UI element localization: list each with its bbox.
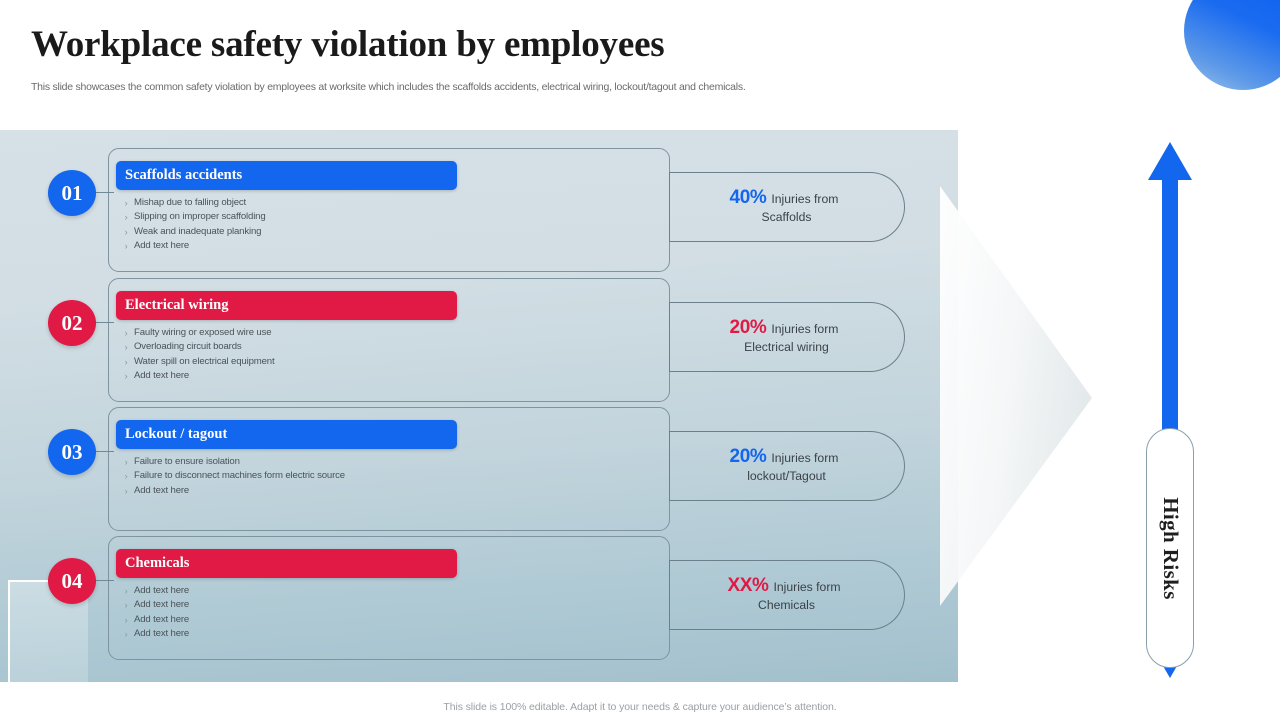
slide-root: Workplace safety violation by employees … [0,0,1280,720]
list-item: ›Add text here [118,484,658,498]
page-subtitle: This slide showcases the common safety v… [31,81,931,95]
chevron-right-icon: › [118,210,134,224]
list-item-label: Water spill on electrical equipment [134,355,275,369]
violation-card-title[interactable]: Electrical wiring [116,291,457,320]
list-item: ›Faulty wiring or exposed wire use [118,326,658,340]
chevron-right-icon: › [118,469,134,483]
chevron-right-icon: › [118,355,134,369]
list-item-label: Mishap due to falling object [134,196,246,210]
violation-bullet-list: ›Mishap due to falling object›Slipping o… [118,196,658,254]
high-risks-capsule: High Risks [1146,428,1194,668]
high-risk-axis: High Risks [1140,138,1202,682]
list-item-label: Overloading circuit boards [134,340,242,354]
list-item-label: Add text here [134,369,189,383]
pill-connector-line [669,302,670,372]
list-item-label: Add text here [134,627,189,641]
pill-connector-line [669,560,670,630]
stat-percent-value: 40% [730,187,767,208]
violation-card[interactable]: Electrical wiring›Faulty wiring or expos… [108,278,670,402]
pill-connector-line [669,431,670,501]
list-item-label: Add text here [134,239,189,253]
stat-pill-line1: 20%Injuries form [730,448,839,467]
chevron-arrow-shape [940,186,1092,606]
decorative-corner-circle [1184,0,1280,90]
list-item: ›Slipping on improper scaffolding [118,210,658,224]
chevron-right-icon: › [118,326,134,340]
list-item-label: Failure to ensure isolation [134,455,240,469]
chevron-right-icon: › [118,627,134,641]
violation-card[interactable]: Scaffolds accidents›Mishap due to fallin… [108,148,670,272]
violation-bullet-list: ›Faulty wiring or exposed wire use›Overl… [118,326,658,384]
chevron-right-icon: › [118,239,134,253]
stat-label-line2: lockout/Tagout [735,467,839,485]
row-number-badge[interactable]: 04 [48,558,96,604]
row-number-badge[interactable]: 01 [48,170,96,216]
page-title: Workplace safety violation by employees [31,24,931,67]
list-item: ›Add text here [118,369,658,383]
list-item-label: Add text here [134,598,189,612]
list-item: ›Failure to disconnect machines form ele… [118,469,658,483]
violation-card[interactable]: Chemicals›Add text here›Add text here›Ad… [108,536,670,660]
stat-pill[interactable]: 40%Injuries fromScaffolds [670,172,905,242]
content-panel: 01Scaffolds accidents›Mishap due to fall… [0,130,958,682]
stat-label-line1: Injuries form [771,322,838,336]
stat-pill-content: XX%Injuries formChemicals [723,577,850,614]
high-risks-label: High Risks [1158,497,1183,600]
stat-pill[interactable]: 20%Injuries formlockout/Tagout [670,431,905,501]
stat-pill-content: 40%Injuries fromScaffolds [726,189,849,226]
list-item: ›Failure to ensure isolation [118,455,658,469]
list-item-label: Add text here [134,584,189,598]
stat-pill[interactable]: XX%Injuries formChemicals [670,560,905,630]
stat-pill-content: 20%Injuries formElectrical wiring [726,319,849,356]
pill-connector-line [669,172,670,242]
list-item-label: Weak and inadequate planking [134,225,261,239]
chevron-right-icon: › [118,225,134,239]
list-item: ›Water spill on electrical equipment [118,355,658,369]
violation-card-title[interactable]: Chemicals [116,549,457,578]
list-item: ›Add text here [118,613,658,627]
stat-pill-content: 20%Injuries formlockout/Tagout [726,448,849,485]
list-item: ›Add text here [118,598,658,612]
chevron-right-icon: › [118,613,134,627]
slide-header: Workplace safety violation by employees … [31,24,931,94]
violation-card-title[interactable]: Scaffolds accidents [116,161,457,190]
violation-card[interactable]: Lockout / tagout›Failure to ensure isola… [108,407,670,531]
list-item: ›Add text here [118,239,658,253]
chevron-right-icon: › [118,455,134,469]
stat-label-line1: Injuries form [773,580,840,594]
stat-pill-line1: 40%Injuries from [730,189,839,208]
stat-label-line1: Injuries from [771,192,838,206]
stat-label-line2: Electrical wiring [735,338,839,356]
chevron-right-icon: › [118,598,134,612]
violation-row: 01Scaffolds accidents›Mishap due to fall… [0,146,958,276]
violation-row: 04Chemicals›Add text here›Add text here›… [0,534,958,664]
stat-pill-line1: 20%Injuries form [730,319,839,338]
violation-row: 02Electrical wiring›Faulty wiring or exp… [0,276,958,406]
list-item-label: Add text here [134,613,189,627]
list-item-label: Add text here [134,484,189,498]
violation-bullet-list: ›Add text here›Add text here›Add text he… [118,584,658,642]
footer-note: This slide is 100% editable. Adapt it to… [0,701,1280,713]
stat-percent-value: 20% [730,446,767,467]
stat-pill-line1: XX%Injuries form [727,577,840,596]
row-number-badge[interactable]: 03 [48,429,96,475]
stat-percent-value: XX% [727,575,768,596]
list-item: ›Mishap due to falling object [118,196,658,210]
stat-pill[interactable]: 20%Injuries formElectrical wiring [670,302,905,372]
violation-bullet-list: ›Failure to ensure isolation›Failure to … [118,455,658,498]
stat-label-line1: Injuries form [771,451,838,465]
chevron-right-icon: › [118,584,134,598]
row-number-badge[interactable]: 02 [48,300,96,346]
list-item-label: Slipping on improper scaffolding [134,210,266,224]
stat-percent-value: 20% [730,317,767,338]
list-item-label: Failure to disconnect machines form elec… [134,469,345,483]
list-item: ›Weak and inadequate planking [118,225,658,239]
violation-row: 03Lockout / tagout›Failure to ensure iso… [0,405,958,535]
list-item: ›Add text here [118,627,658,641]
list-item: ›Add text here [118,584,658,598]
stat-label-line2: Scaffolds [735,208,839,226]
chevron-right-icon: › [118,369,134,383]
violation-card-title[interactable]: Lockout / tagout [116,420,457,449]
chevron-right-icon: › [118,340,134,354]
stat-label-line2: Chemicals [732,596,840,614]
list-item: ›Overloading circuit boards [118,340,658,354]
list-item-label: Faulty wiring or exposed wire use [134,326,271,340]
chevron-right-icon: › [118,196,134,210]
chevron-right-icon: › [118,484,134,498]
